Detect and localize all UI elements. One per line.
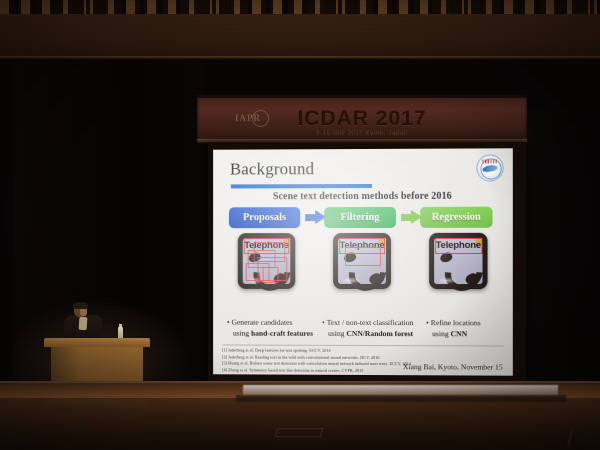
telephone-sign-proposals: Telephone [238, 233, 295, 289]
handset-mouthpiece [464, 272, 479, 286]
stage-curtain-right [520, 110, 600, 385]
slide-title-underline [231, 184, 372, 188]
lectern-top [44, 338, 150, 347]
bullet-line-2-bold: CNN [451, 329, 468, 338]
auditorium-photo: IAPR ICDAR 2017 9-15 Nov 2017 Kyoto, Jap… [0, 0, 600, 450]
bullet-line-1: Generate candidates [232, 318, 293, 327]
slide-bullets: •Generate candidates using hand-craft fe… [221, 317, 507, 348]
sign-glare [437, 277, 457, 284]
ceiling-coffer-pattern [0, 0, 600, 14]
handset-mouthpiece [368, 272, 383, 286]
bullet-proposals: •Generate candidates using hand-craft fe… [227, 317, 318, 339]
pipeline-stage-regression: Regression Telephone [420, 207, 497, 289]
banner-subtitle: 9-15 Nov 2017 Kyoto, Japan [197, 131, 527, 137]
bullet-marker: • [426, 318, 429, 327]
bullet-filtering: •Text / non-text classification using CN… [322, 317, 422, 339]
presenter-shirt [79, 317, 88, 331]
stage-floor-front [0, 398, 600, 450]
stage-label-regression: Regression [420, 207, 493, 228]
reference-item: [5] Gomez, D Karatzas. Textproposals: a … [222, 373, 504, 375]
presentation-slide: Background Scene text detection methods … [213, 148, 513, 375]
bullet-line-2: using CNN/Random forest [322, 328, 422, 339]
banner-top-edge [197, 95, 527, 98]
hust-university-logo [476, 154, 503, 181]
proposal-box [263, 267, 279, 283]
bullet-line-2: using CNN [426, 328, 507, 339]
banner-title: ICDAR 2017 [197, 107, 527, 131]
bullet-regression: •Refine locations using CNN [426, 317, 507, 339]
bullet-line-2-plain: using [328, 329, 346, 338]
bullet-line-1: Text / non-text classification [327, 318, 414, 327]
upper-wall-band [0, 14, 600, 60]
bullet-line-2-bold: CNN/Random forest [346, 329, 413, 338]
bullet-line-1: Refine locations [431, 318, 481, 327]
bullet-line-2-plain: using [432, 329, 450, 338]
stage-floor-edge [0, 381, 600, 383]
bullet-marker: • [227, 318, 230, 327]
venue-banner: IAPR ICDAR 2017 9-15 Nov 2017 Kyoto, Jap… [197, 95, 527, 143]
bullet-marker: • [322, 318, 325, 327]
presenter-face [80, 308, 87, 316]
pipeline-diagram: Proposals Telephone [227, 207, 499, 316]
sign-glare [341, 277, 361, 284]
refined-box [435, 238, 482, 254]
projection-screen: Background Scene text detection methods … [208, 142, 526, 384]
stage-label-proposals: Proposals [229, 207, 300, 228]
telephone-sign-regression: Telephone [429, 233, 487, 289]
bullet-line-2: using hand-craft features [227, 328, 318, 339]
bullet-line-2-plain: using [233, 329, 251, 338]
slide-title: Background [230, 159, 314, 179]
logo-text-arc [482, 159, 497, 163]
slide-subtitle: Scene text detection methods before 2016 [213, 191, 513, 203]
floor-marking [275, 428, 324, 437]
filtered-box [345, 247, 381, 266]
presenter [63, 303, 105, 343]
telephone-sign-filtering: Telephone [333, 233, 391, 289]
pipeline-stage-filtering: Filtering Telephone [324, 207, 400, 289]
presenter-hair [73, 302, 88, 309]
stage-label-filtering: Filtering [324, 207, 396, 228]
bullet-line-2-bold: hand-craft features [251, 329, 313, 338]
stage-curtain-left [14, 59, 204, 381]
pipeline-stage-proposals: Proposals Telephone [229, 207, 304, 289]
slide-signature: Xiang Bai, Kyoto, November 15 [403, 362, 503, 371]
